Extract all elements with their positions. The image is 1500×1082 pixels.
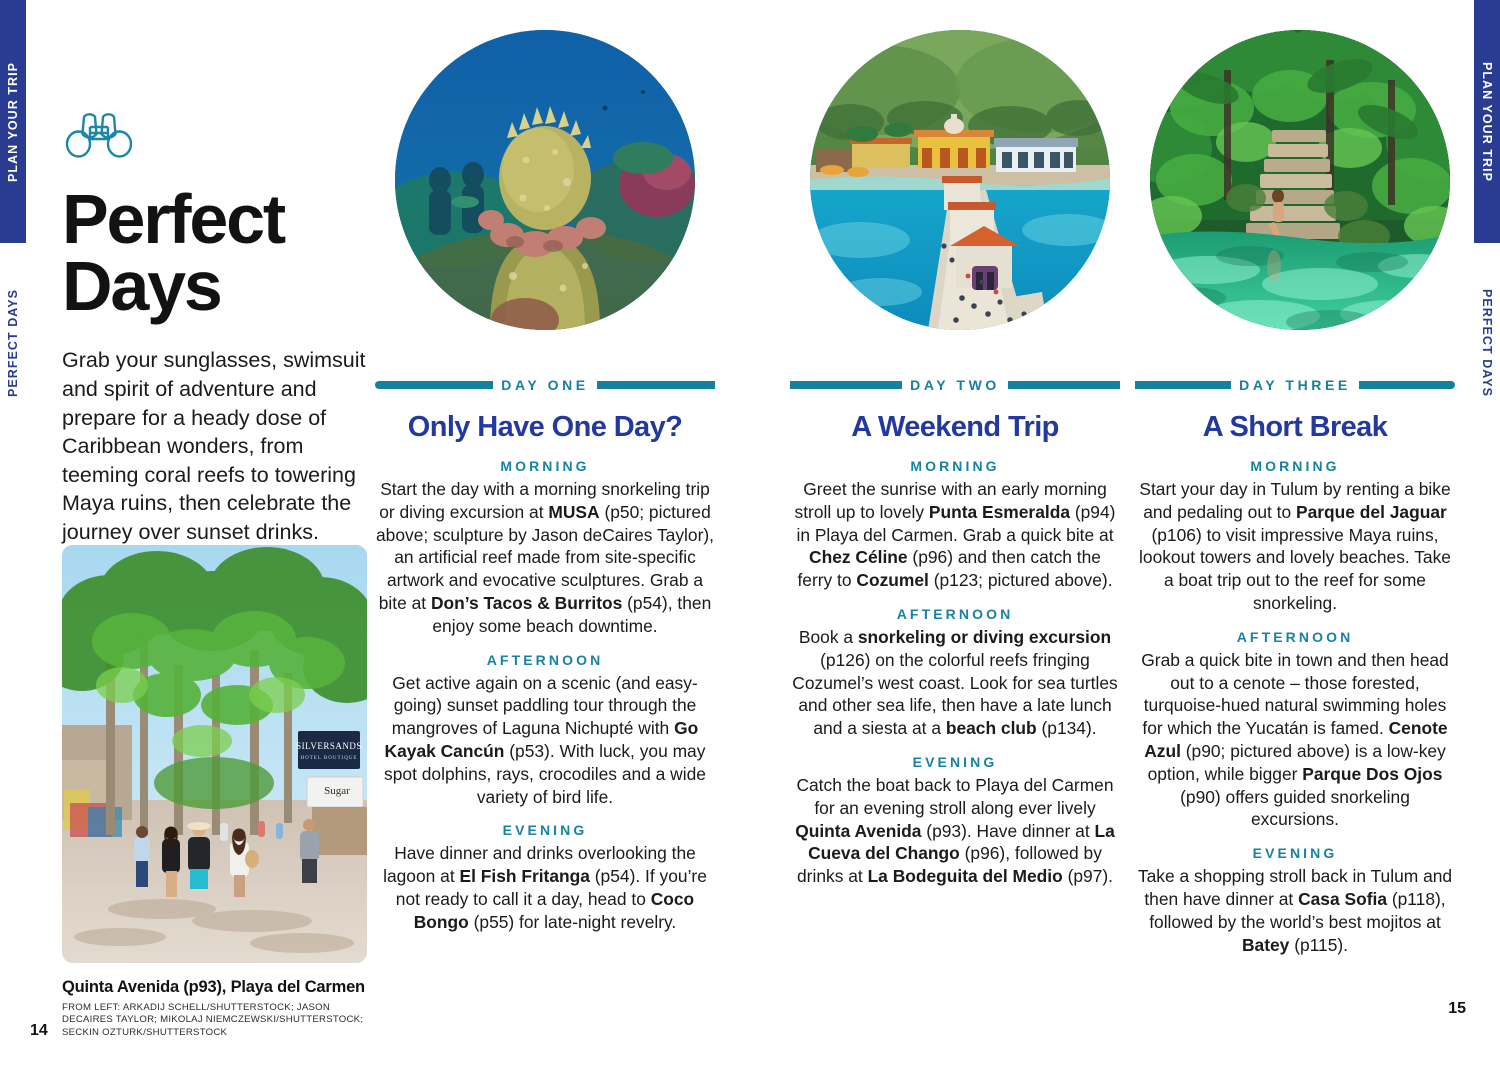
day-one-morning-text: Start the day with a morning snorkeling …	[375, 478, 715, 638]
itinerary-columns: DAY ONE Only Have One Day? MORNING Start…	[0, 378, 1500, 978]
day-bar-right-segment	[1008, 381, 1120, 389]
circular-photo-row	[375, 30, 1450, 350]
day-two-afternoon-text: Book a snorkeling or diving excursion (p…	[790, 626, 1120, 740]
day-three-evening-label: EVENING	[1135, 845, 1455, 861]
day-three-label: DAY THREE	[1231, 377, 1359, 393]
day-three-morning-text: Start your day in Tulum by renting a bik…	[1135, 478, 1455, 615]
day-one-title: Only Have One Day?	[375, 411, 715, 444]
day-bar-left-segment	[790, 381, 902, 389]
day-one-bar: DAY ONE	[375, 378, 715, 391]
day-one-evening-text: Have dinner and drinks overlooking the l…	[375, 842, 715, 933]
page-number-left: 14	[30, 1022, 48, 1040]
page-title: Perfect Days	[62, 186, 367, 320]
day-bar-right-segment	[1359, 381, 1455, 389]
day-one-label: DAY ONE	[493, 377, 596, 393]
itinerary-column-day-three: DAY THREE A Short Break MORNING Start yo…	[1135, 378, 1455, 956]
photo-caption: Quinta Avenida (p93), Playa del Carmen	[62, 978, 392, 997]
right-section-tab: PLAN YOUR TRIP	[1474, 0, 1500, 243]
day-two-evening-text: Catch the boat back to Playa del Carmen …	[790, 774, 1120, 888]
day-one-afternoon-label: AFTERNOON	[375, 652, 715, 668]
day-three-afternoon-text: Grab a quick bite in town and then head …	[1135, 649, 1455, 831]
day-three-afternoon-label: AFTERNOON	[1135, 629, 1455, 645]
day-bar-left-segment	[1135, 381, 1231, 389]
page-number-right: 15	[1448, 1000, 1466, 1018]
left-section-tab-label: PLAN YOUR TRIP	[6, 61, 20, 181]
binoculars-icon	[62, 108, 136, 160]
day-two-evening-label: EVENING	[790, 754, 1120, 770]
musa-sculpture-photo	[395, 30, 695, 330]
day-bar-left-segment	[375, 381, 494, 389]
cozumel-pier-photo	[810, 30, 1110, 330]
magazine-spread: PLAN YOUR TRIP PERFECT DAYS PLAN YOUR TR…	[0, 0, 1500, 1082]
day-two-label: DAY TWO	[902, 377, 1008, 393]
left-section-tab: PLAN YOUR TRIP	[0, 0, 26, 243]
itinerary-column-day-one: DAY ONE Only Have One Day? MORNING Start…	[375, 378, 715, 934]
day-two-title: A Weekend Trip	[790, 411, 1120, 444]
day-two-bar: DAY TWO	[790, 378, 1120, 391]
right-section-tab-label: PLAN YOUR TRIP	[1480, 61, 1494, 181]
itinerary-column-day-two: DAY TWO A Weekend Trip MORNING Greet the…	[790, 378, 1120, 888]
day-bar-right-segment	[597, 381, 716, 389]
day-two-morning-label: MORNING	[790, 458, 1120, 474]
day-one-afternoon-text: Get active again on a scenic (and easy-g…	[375, 672, 715, 809]
photo-credits: FROM LEFT: ARKADIJ SCHELL/SHUTTERSTOCK; …	[62, 1002, 382, 1039]
day-one-morning-label: MORNING	[375, 458, 715, 474]
day-three-evening-text: Take a shopping stroll back in Tulum and…	[1135, 865, 1455, 956]
cenote-photo	[1150, 30, 1450, 330]
day-three-title: A Short Break	[1135, 411, 1455, 444]
day-one-evening-label: EVENING	[375, 822, 715, 838]
day-three-bar: DAY THREE	[1135, 378, 1455, 391]
day-three-morning-label: MORNING	[1135, 458, 1455, 474]
day-two-morning-text: Greet the sunrise with an early morning …	[790, 478, 1120, 592]
day-two-afternoon-label: AFTERNOON	[790, 606, 1120, 622]
